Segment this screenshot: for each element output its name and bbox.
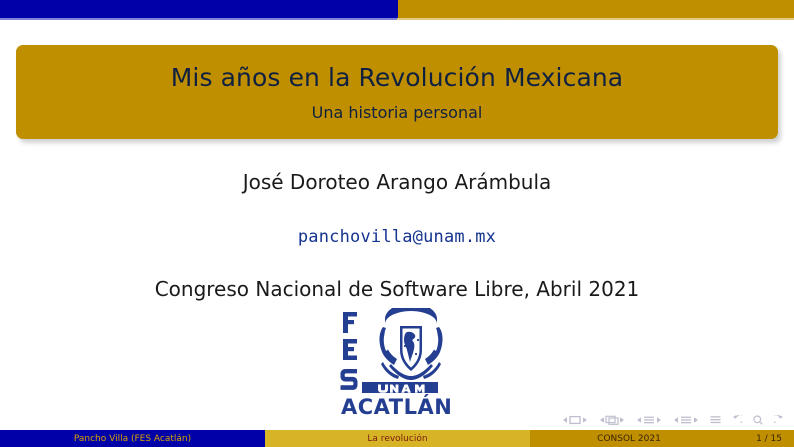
author-email-link[interactable]: panchovilla@unam.mx xyxy=(0,227,794,247)
slide-nav-icon[interactable] xyxy=(562,415,588,425)
section-nav-icon[interactable] xyxy=(673,415,699,425)
svg-text:ACATLÁN: ACATLÁN xyxy=(341,394,452,419)
presentation-nav-icon[interactable] xyxy=(710,415,721,425)
frame-nav-icon[interactable] xyxy=(599,415,625,425)
footer-date: CONSOL 2021 xyxy=(530,430,728,447)
fes-letters xyxy=(341,312,358,390)
acatlan-text: ACATLÁN xyxy=(341,394,452,419)
back-nav-icon[interactable] xyxy=(732,415,742,425)
event-name: Congreso Nacional de Software Libre, Abr… xyxy=(0,277,794,301)
institution-logo-wrap: ACATLÁN xyxy=(0,308,794,420)
top-bar-gold-half xyxy=(398,0,794,18)
top-bar-underline xyxy=(0,18,794,20)
footer-page-number: 1 / 15 xyxy=(728,430,794,447)
beamer-navigation-symbols[interactable] xyxy=(562,415,784,425)
footer-author: Pancho Villa (FES Acatlán) xyxy=(0,430,265,447)
unam-shield xyxy=(379,308,442,380)
title-block: Mis años en la Revolución Mexicana Una h… xyxy=(16,45,778,139)
forward-nav-icon[interactable] xyxy=(774,415,784,425)
fes-acatlan-unam-logo: ACATLÁN xyxy=(337,308,457,420)
beamer-title-slide: Mis años en la Revolución Mexicana Una h… xyxy=(0,0,794,447)
author-block: José Doroteo Arango Arámbula panchovilla… xyxy=(0,170,794,301)
title-box: Mis años en la Revolución Mexicana Una h… xyxy=(16,45,778,139)
top-bar-blue-half xyxy=(0,0,398,18)
footer-title: La revolución xyxy=(265,430,530,447)
top-decoration-bar xyxy=(0,0,794,18)
unam-band xyxy=(362,382,438,393)
page-subtitle: Una historia personal xyxy=(36,104,758,122)
page-title: Mis años en la Revolución Mexicana xyxy=(36,64,758,93)
author-name: José Doroteo Arango Arámbula xyxy=(0,170,794,194)
slide-footer: Pancho Villa (FES Acatlán) La revolución… xyxy=(0,430,794,447)
search-nav-icon[interactable] xyxy=(753,415,763,425)
subsection-nav-icon[interactable] xyxy=(636,415,662,425)
